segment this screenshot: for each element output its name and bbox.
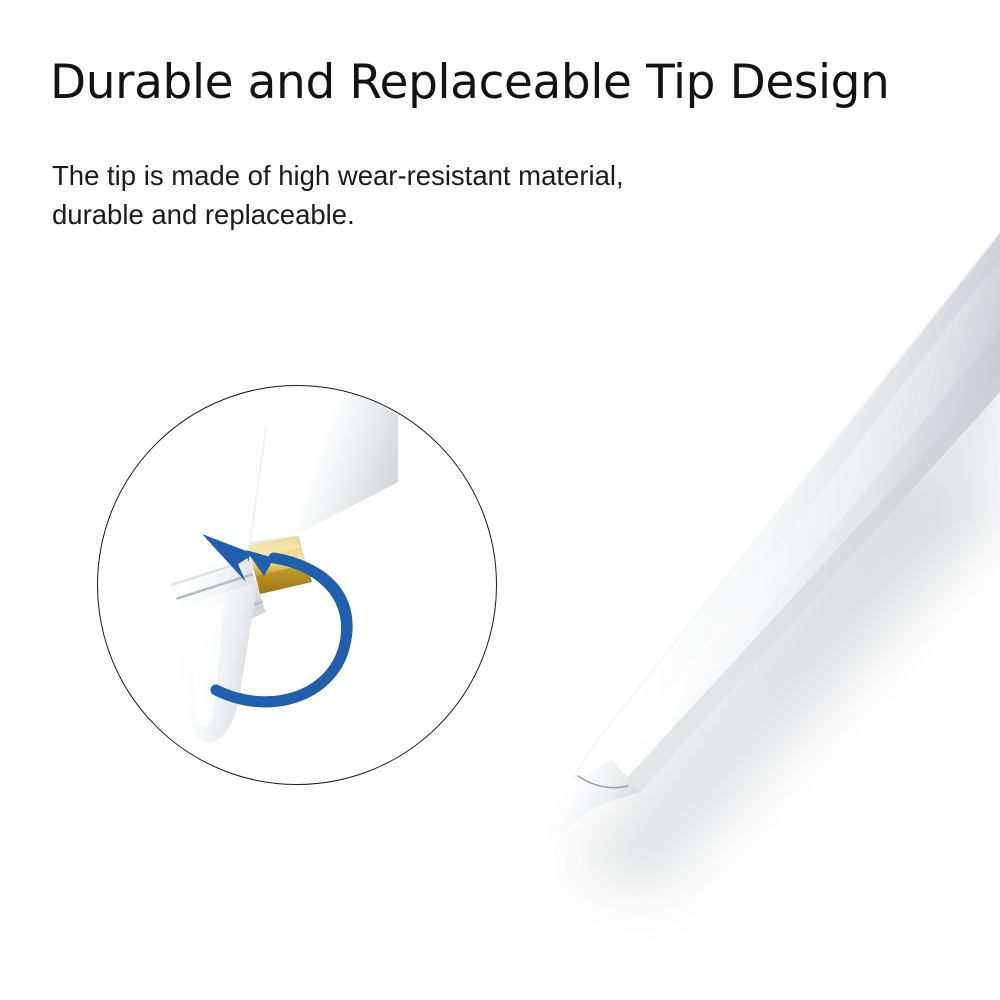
stylus-shadow bbox=[560, 330, 1000, 900]
stylus-cone-tip bbox=[540, 760, 640, 836]
page-title: Durable and Replaceable Tip Design bbox=[50, 58, 970, 109]
stylus-tip-seam-line bbox=[578, 776, 628, 788]
stylus-body bbox=[540, 232, 1000, 836]
page-subtitle: The tip is made of high wear-resistant m… bbox=[52, 156, 752, 234]
tip-detail-illustration bbox=[98, 386, 496, 784]
replaceable-cone-tip bbox=[176, 582, 258, 743]
barrel-facet bbox=[622, 258, 1000, 752]
product-feature-image: Durable and Replaceable Tip Design The t… bbox=[0, 0, 1000, 1000]
page-subtitle-line-1: The tip is made of high wear-resistant m… bbox=[52, 156, 752, 195]
tip-detail-circle bbox=[97, 385, 497, 785]
page-subtitle-line-2: durable and replaceable. bbox=[52, 195, 752, 234]
